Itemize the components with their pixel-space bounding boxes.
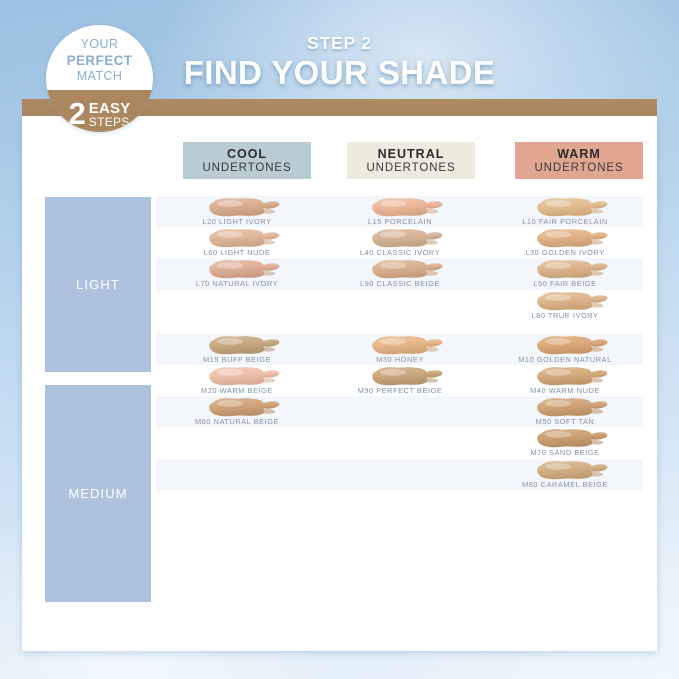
- shade-swatch-icon: [536, 460, 610, 481]
- shade-swatch-icon: [371, 366, 445, 387]
- shade-cell[interactable]: L60 LIGHT NUDE: [156, 227, 318, 258]
- undertone-header-neutral: NEUTRAL UNDERTONES: [347, 142, 475, 179]
- shade-finder-infographic: STEP 2 FIND YOUR SHADE YOUR PERFECT MATC…: [0, 0, 679, 679]
- shade-cell[interactable]: M80 CARAMEL BEIGE: [484, 459, 646, 490]
- shade-swatch-icon: [208, 197, 282, 218]
- shade-swatch-icon: [208, 335, 282, 356]
- shade-cell[interactable]: M60 NATURAL BEIGE: [156, 396, 318, 427]
- shade-cell[interactable]: L90 CLASSIC BEIGE: [319, 258, 481, 289]
- shade-name-label: M70 SAND BEIGE: [484, 448, 646, 457]
- shade-name-label: L15 PORCELAIN: [319, 217, 481, 226]
- shade-row: L20 LIGHT IVORY L15 PORCELAIN: [156, 196, 643, 227]
- shade-name-label: L60 LIGHT NUDE: [156, 248, 318, 257]
- shade-cell[interactable]: M10 GOLDEN NATURAL: [484, 334, 646, 365]
- badge-bottom-text: 2 EASY STEPS: [46, 100, 153, 129]
- shade-name-label: L20 LIGHT IVORY: [156, 217, 318, 226]
- shade-cell[interactable]: L15 PORCELAIN: [319, 196, 481, 227]
- shade-swatch-icon: [371, 259, 445, 280]
- shade-swatch-icon: [536, 428, 610, 449]
- undertone-cool-subtitle: UNDERTONES: [183, 162, 311, 176]
- shade-row: M20 WARM BEIGE M90 PERFECT BEIGE: [156, 365, 643, 396]
- undertone-warm-subtitle: UNDERTONES: [515, 162, 643, 176]
- shade-cell[interactable]: M50 SOFT TAN: [484, 396, 646, 427]
- shade-name-label: L40 CLASSIC IVORY: [319, 248, 481, 257]
- shade-swatch-icon: [208, 259, 282, 280]
- tone-group-light-label: LIGHT: [76, 277, 120, 292]
- shade-name-label: M80 CARAMEL BEIGE: [484, 480, 646, 489]
- shade-name-label: M30 HONEY: [319, 355, 481, 364]
- shade-row: L60 LIGHT NUDE L40 CLASSIC IVORY: [156, 227, 643, 258]
- shade-cell-empty: [319, 396, 481, 427]
- undertone-neutral-subtitle: UNDERTONES: [347, 162, 475, 176]
- badge-line-your: YOUR: [46, 37, 153, 53]
- undertone-header-cool: COOL UNDERTONES: [183, 142, 311, 179]
- shade-row: L80 TRUE IVORY: [156, 290, 643, 321]
- shade-cell-empty: [156, 427, 318, 458]
- shade-swatch-icon: [536, 397, 610, 418]
- shade-cell[interactable]: M70 SAND BEIGE: [484, 427, 646, 458]
- shade-swatch-icon: [536, 335, 610, 356]
- shade-name-label: L30 GOLDEN IVORY: [484, 248, 646, 257]
- shade-cell[interactable]: L40 CLASSIC IVORY: [319, 227, 481, 258]
- badge-step-count: 2: [69, 100, 86, 129]
- shade-swatch-icon: [371, 197, 445, 218]
- shade-row: M70 SAND BEIGE: [156, 427, 643, 458]
- shade-name-label: M15 BUFF BEIGE: [156, 355, 318, 364]
- shade-swatch-icon: [208, 366, 282, 387]
- shade-row: M60 NATURAL BEIGE M50 SOFT TAN: [156, 396, 643, 427]
- shade-cell[interactable]: M40 WARM NUDE: [484, 365, 646, 396]
- undertone-warm-title: WARM: [515, 147, 643, 162]
- shade-cell[interactable]: L70 NATURAL IVORY: [156, 258, 318, 289]
- shade-grid: L20 LIGHT IVORY L15 PORCELAIN: [156, 196, 643, 490]
- shade-name-label: M20 WARM BEIGE: [156, 386, 318, 395]
- badge-steps-stack: EASY STEPS: [89, 101, 131, 128]
- shade-name-label: M90 PERFECT BEIGE: [319, 386, 481, 395]
- shade-name-label: M60 NATURAL BEIGE: [156, 417, 318, 426]
- shade-name-label: L80 TRUE IVORY: [484, 311, 646, 320]
- perfect-match-badge: YOUR PERFECT MATCH 2 EASY STEPS: [46, 25, 153, 132]
- shade-cell[interactable]: L20 LIGHT IVORY: [156, 196, 318, 227]
- undertone-header-warm: WARM UNDERTONES: [515, 142, 643, 179]
- badge-top-text: YOUR PERFECT MATCH: [46, 37, 153, 85]
- shade-swatch-icon: [536, 228, 610, 249]
- shade-cell-empty: [319, 427, 481, 458]
- shade-swatch-icon: [371, 335, 445, 356]
- shade-name-label: M40 WARM NUDE: [484, 386, 646, 395]
- shade-swatch-icon: [536, 259, 610, 280]
- tone-group-medium: MEDIUM: [45, 385, 151, 602]
- shade-cell[interactable]: M90 PERFECT BEIGE: [319, 365, 481, 396]
- badge-line-match: MATCH: [46, 69, 153, 85]
- shade-swatch-icon: [536, 366, 610, 387]
- shade-swatch-icon: [536, 291, 610, 312]
- shade-cell[interactable]: L10 FAIR PORCELAIN: [484, 196, 646, 227]
- shade-cell[interactable]: M30 HONEY: [319, 334, 481, 365]
- badge-label-steps: STEPS: [89, 116, 131, 128]
- shade-name-label: M10 GOLDEN NATURAL: [484, 355, 646, 364]
- shade-cell-empty: [156, 290, 318, 321]
- shade-row: L70 NATURAL IVORY L90 CLASSIC BEIGE: [156, 258, 643, 289]
- shade-name-label: L10 FAIR PORCELAIN: [484, 217, 646, 226]
- shade-cell-empty: [156, 459, 318, 490]
- badge-label-easy: EASY: [89, 101, 131, 116]
- shade-swatch-icon: [371, 228, 445, 249]
- shade-swatch-icon: [208, 397, 282, 418]
- shade-name-label: L70 NATURAL IVORY: [156, 279, 318, 288]
- shade-row: M80 CARAMEL BEIGE: [156, 459, 643, 490]
- undertone-cool-title: COOL: [183, 147, 311, 162]
- shade-swatch-icon: [536, 197, 610, 218]
- shade-name-label: M50 SOFT TAN: [484, 417, 646, 426]
- shade-cell[interactable]: M20 WARM BEIGE: [156, 365, 318, 396]
- badge-line-perfect: PERFECT: [46, 53, 153, 70]
- shade-cell[interactable]: L80 TRUE IVORY: [484, 290, 646, 321]
- shade-cell[interactable]: M15 BUFF BEIGE: [156, 334, 318, 365]
- undertone-neutral-title: NEUTRAL: [347, 147, 475, 162]
- shade-cell[interactable]: L50 FAIR BEIGE: [484, 258, 646, 289]
- shade-cell[interactable]: L30 GOLDEN IVORY: [484, 227, 646, 258]
- shade-cell-empty: [319, 290, 481, 321]
- group-separator: [156, 321, 643, 334]
- shade-name-label: L90 CLASSIC BEIGE: [319, 279, 481, 288]
- shade-cell-empty: [319, 459, 481, 490]
- shade-name-label: L50 FAIR BEIGE: [484, 279, 646, 288]
- shade-swatch-icon: [208, 228, 282, 249]
- tone-group-light: LIGHT: [45, 197, 151, 372]
- shade-row: M15 BUFF BEIGE M30 HONEY: [156, 334, 643, 365]
- tone-group-medium-label: MEDIUM: [68, 486, 127, 501]
